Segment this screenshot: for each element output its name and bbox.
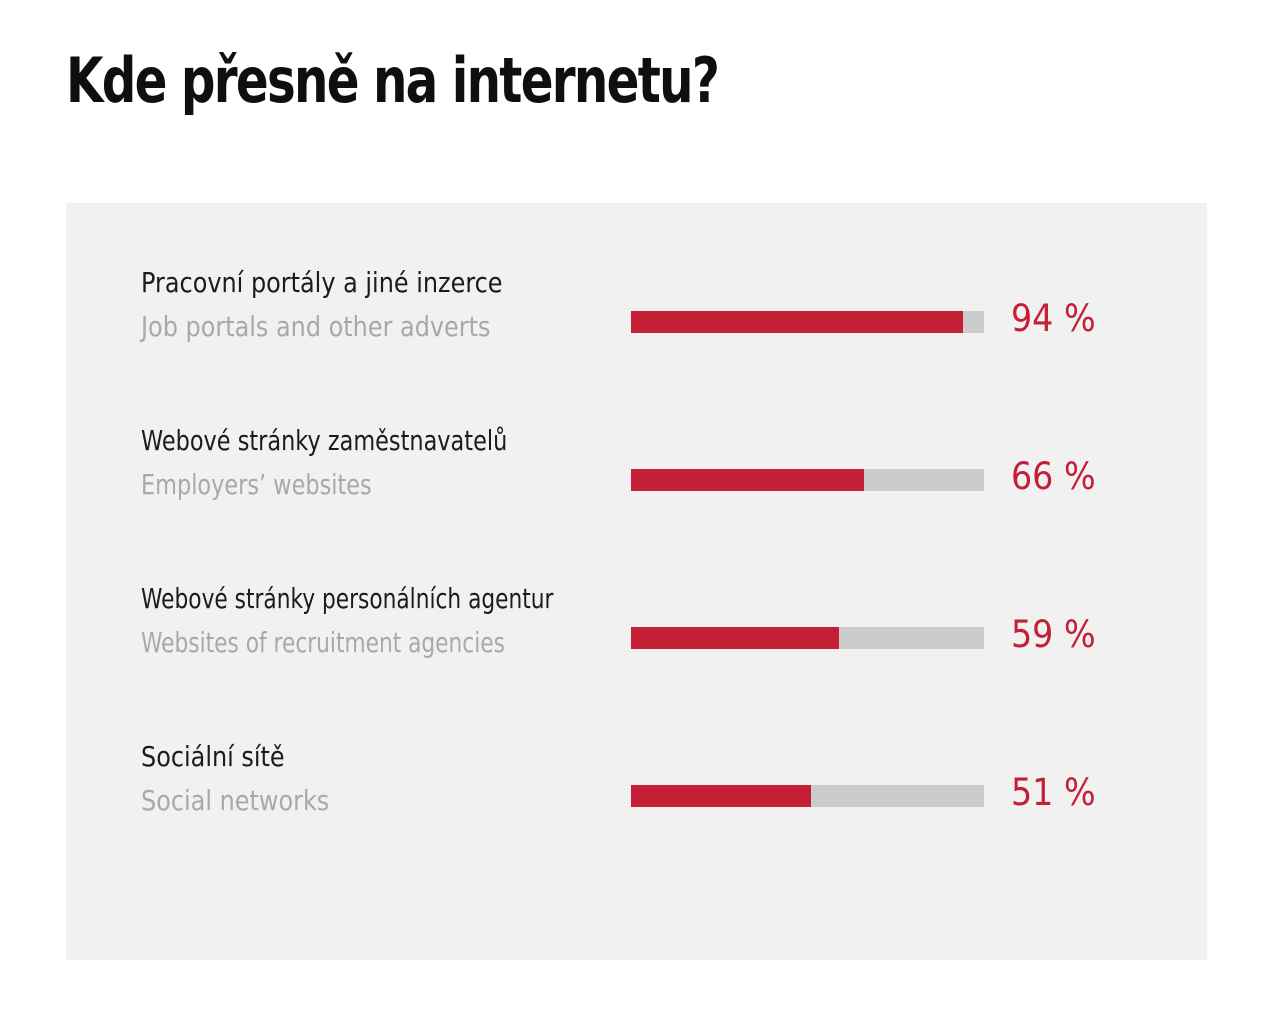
bar-value-label: 59 % xyxy=(1011,613,1146,656)
bar-value-label: 51 % xyxy=(1011,771,1146,814)
chart-row: Webové stránky personálních agentur Webs… xyxy=(66,582,1207,694)
row-label-secondary: Employers’ websites xyxy=(141,468,372,502)
row-label-group: Pracovní portály a jiné inzerce Job port… xyxy=(141,266,641,378)
row-label-group: Webové stránky personálních agentur Webs… xyxy=(141,582,641,694)
bar-value-label: 66 % xyxy=(1011,455,1146,498)
row-label-secondary: Social networks xyxy=(141,784,329,818)
row-label-primary: Pracovní portály a jiné inzerce xyxy=(141,266,503,300)
chart-row: Webové stránky zaměstnavatelů Employers’… xyxy=(66,424,1207,536)
slide-canvas: Kde přesně na internetu? Pracovní portál… xyxy=(0,0,1280,1023)
bar-track xyxy=(631,785,984,807)
bar-fill xyxy=(631,785,811,807)
bar-fill xyxy=(631,627,839,649)
page-title: Kde přesně na internetu? xyxy=(66,50,718,112)
bar-track xyxy=(631,627,984,649)
row-label-primary: Webové stránky zaměstnavatelů xyxy=(141,424,507,458)
chart-panel: Pracovní portály a jiné inzerce Job port… xyxy=(66,203,1207,960)
chart-row: Pracovní portály a jiné inzerce Job port… xyxy=(66,266,1207,378)
row-label-secondary: Job portals and other adverts xyxy=(141,310,490,344)
row-label-group: Sociální sítě Social networks xyxy=(141,740,641,852)
row-label-group: Webové stránky zaměstnavatelů Employers’… xyxy=(141,424,641,536)
bar-track xyxy=(631,469,984,491)
row-label-primary: Webové stránky personálních agentur xyxy=(141,582,553,616)
row-label-secondary: Websites of recruitment agencies xyxy=(141,626,505,660)
chart-row: Sociální sítě Social networks 51 % xyxy=(66,740,1207,852)
bar-value-label: 94 % xyxy=(1011,297,1146,340)
bar-fill xyxy=(631,469,864,491)
bar-track xyxy=(631,311,984,333)
row-label-primary: Sociální sítě xyxy=(141,740,285,774)
bar-fill xyxy=(631,311,963,333)
